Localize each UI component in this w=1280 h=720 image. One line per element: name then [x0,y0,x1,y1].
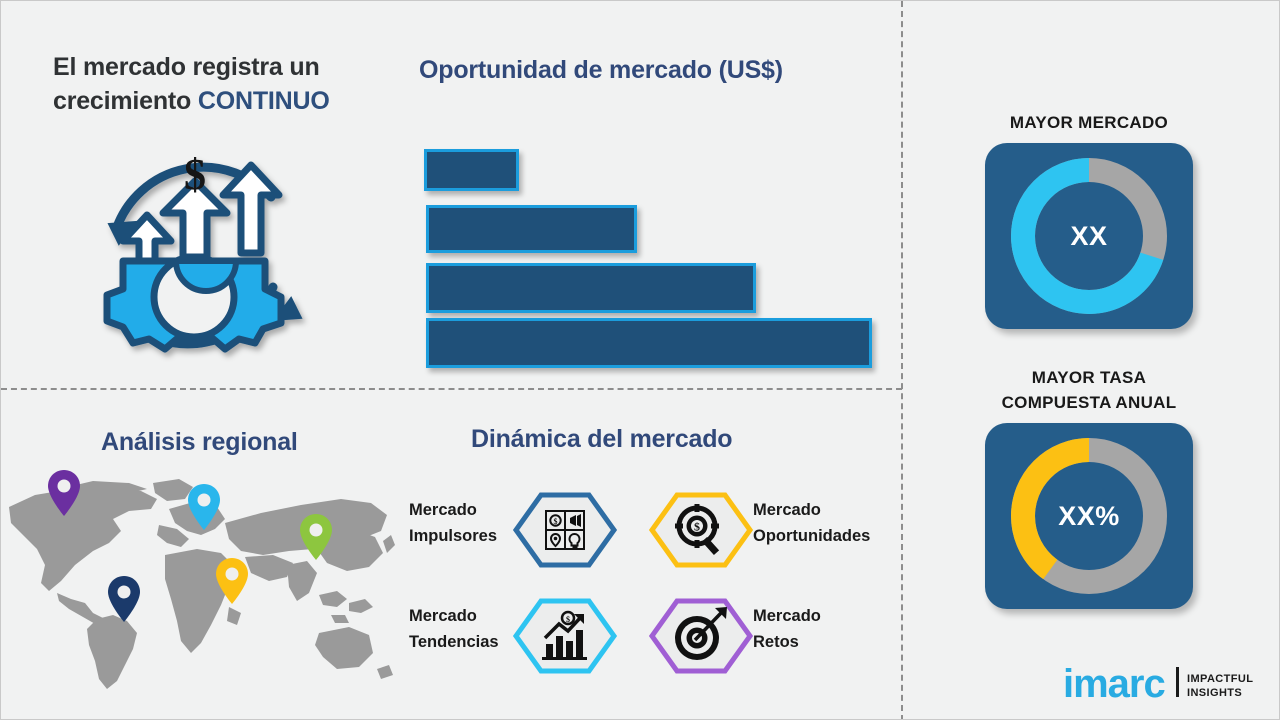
dynamics-item-challenges[interactable]: Mercado Retos [649,599,884,677]
dynamics-title: Dinámica del mercado [471,425,732,454]
growth-heading: El mercado registra un crecimiento CONTI… [53,51,403,119]
kpi-2-card: XX% [985,423,1193,609]
imarc-logo: imarc IMPACTFUL INSIGHTS [1063,659,1263,707]
dynamics-item-trends-label: Mercado Tendencias [409,603,499,656]
growth-heading-line1: El mercado registra un [53,53,320,81]
puzzle-pieces-icon: $ [513,492,617,568]
kpi-1-card: XX [985,143,1193,329]
bar-chart-growth-icon: $ [513,598,617,674]
bar-2 [426,205,637,253]
pin-north-america [47,469,81,517]
opportunity-bar-chart [424,149,884,354]
svg-text:$: $ [694,520,700,534]
bar-4 [426,318,872,368]
dynamics-item-opportunities-label: Mercado Oportunidades [753,497,870,550]
svg-text:$: $ [566,615,570,624]
imarc-wordmark: imarc [1063,662,1165,706]
dynamics-item-opportunities[interactable]: $ Mercado Oportunidades [649,493,884,571]
vertical-divider [901,1,903,720]
dynamics-item-drivers[interactable]: Mercado Impulsores $ [409,493,624,571]
pin-middle-east [215,557,249,605]
svg-text:$: $ [554,517,558,526]
kpi-1-label: MAYOR MERCADO [959,111,1219,136]
dynamics-item-drivers-label: Mercado Impulsores [409,497,497,550]
imarc-tagline-line2: INSIGHTS [1187,687,1242,699]
growth-gear-arrows-icon: $ [75,139,315,371]
dynamics-item-challenges-label: Mercado Retos [753,603,821,656]
opportunity-title: Oportunidad de mercado (US$) [419,56,783,85]
growth-heading-line2-plain: crecimiento [53,87,198,115]
growth-heading-line2-accent: CONTINUO [198,87,330,115]
kpi-1-donut [985,143,1193,329]
regional-title: Análisis regional [101,428,298,457]
kpi-2-donut [985,423,1193,609]
target-arrow-icon [649,598,753,674]
bar-1 [424,149,519,191]
infographic-page: El mercado registra un crecimiento CONTI… [0,0,1280,720]
pin-europe [187,483,221,531]
magnifier-dollar-target-icon: $ [649,492,753,568]
dollar-symbol: $ [184,150,206,199]
bar-3 [426,263,756,313]
pin-east-asia [299,513,333,561]
horizontal-divider [1,388,902,390]
imarc-tagline-line1: IMPACTFUL [1187,673,1253,685]
pin-south-america [107,575,141,623]
dynamics-item-trends[interactable]: Mercado Tendencias $ [409,599,624,677]
kpi-2-label: MAYOR TASA COMPUESTA ANUAL [959,366,1219,415]
